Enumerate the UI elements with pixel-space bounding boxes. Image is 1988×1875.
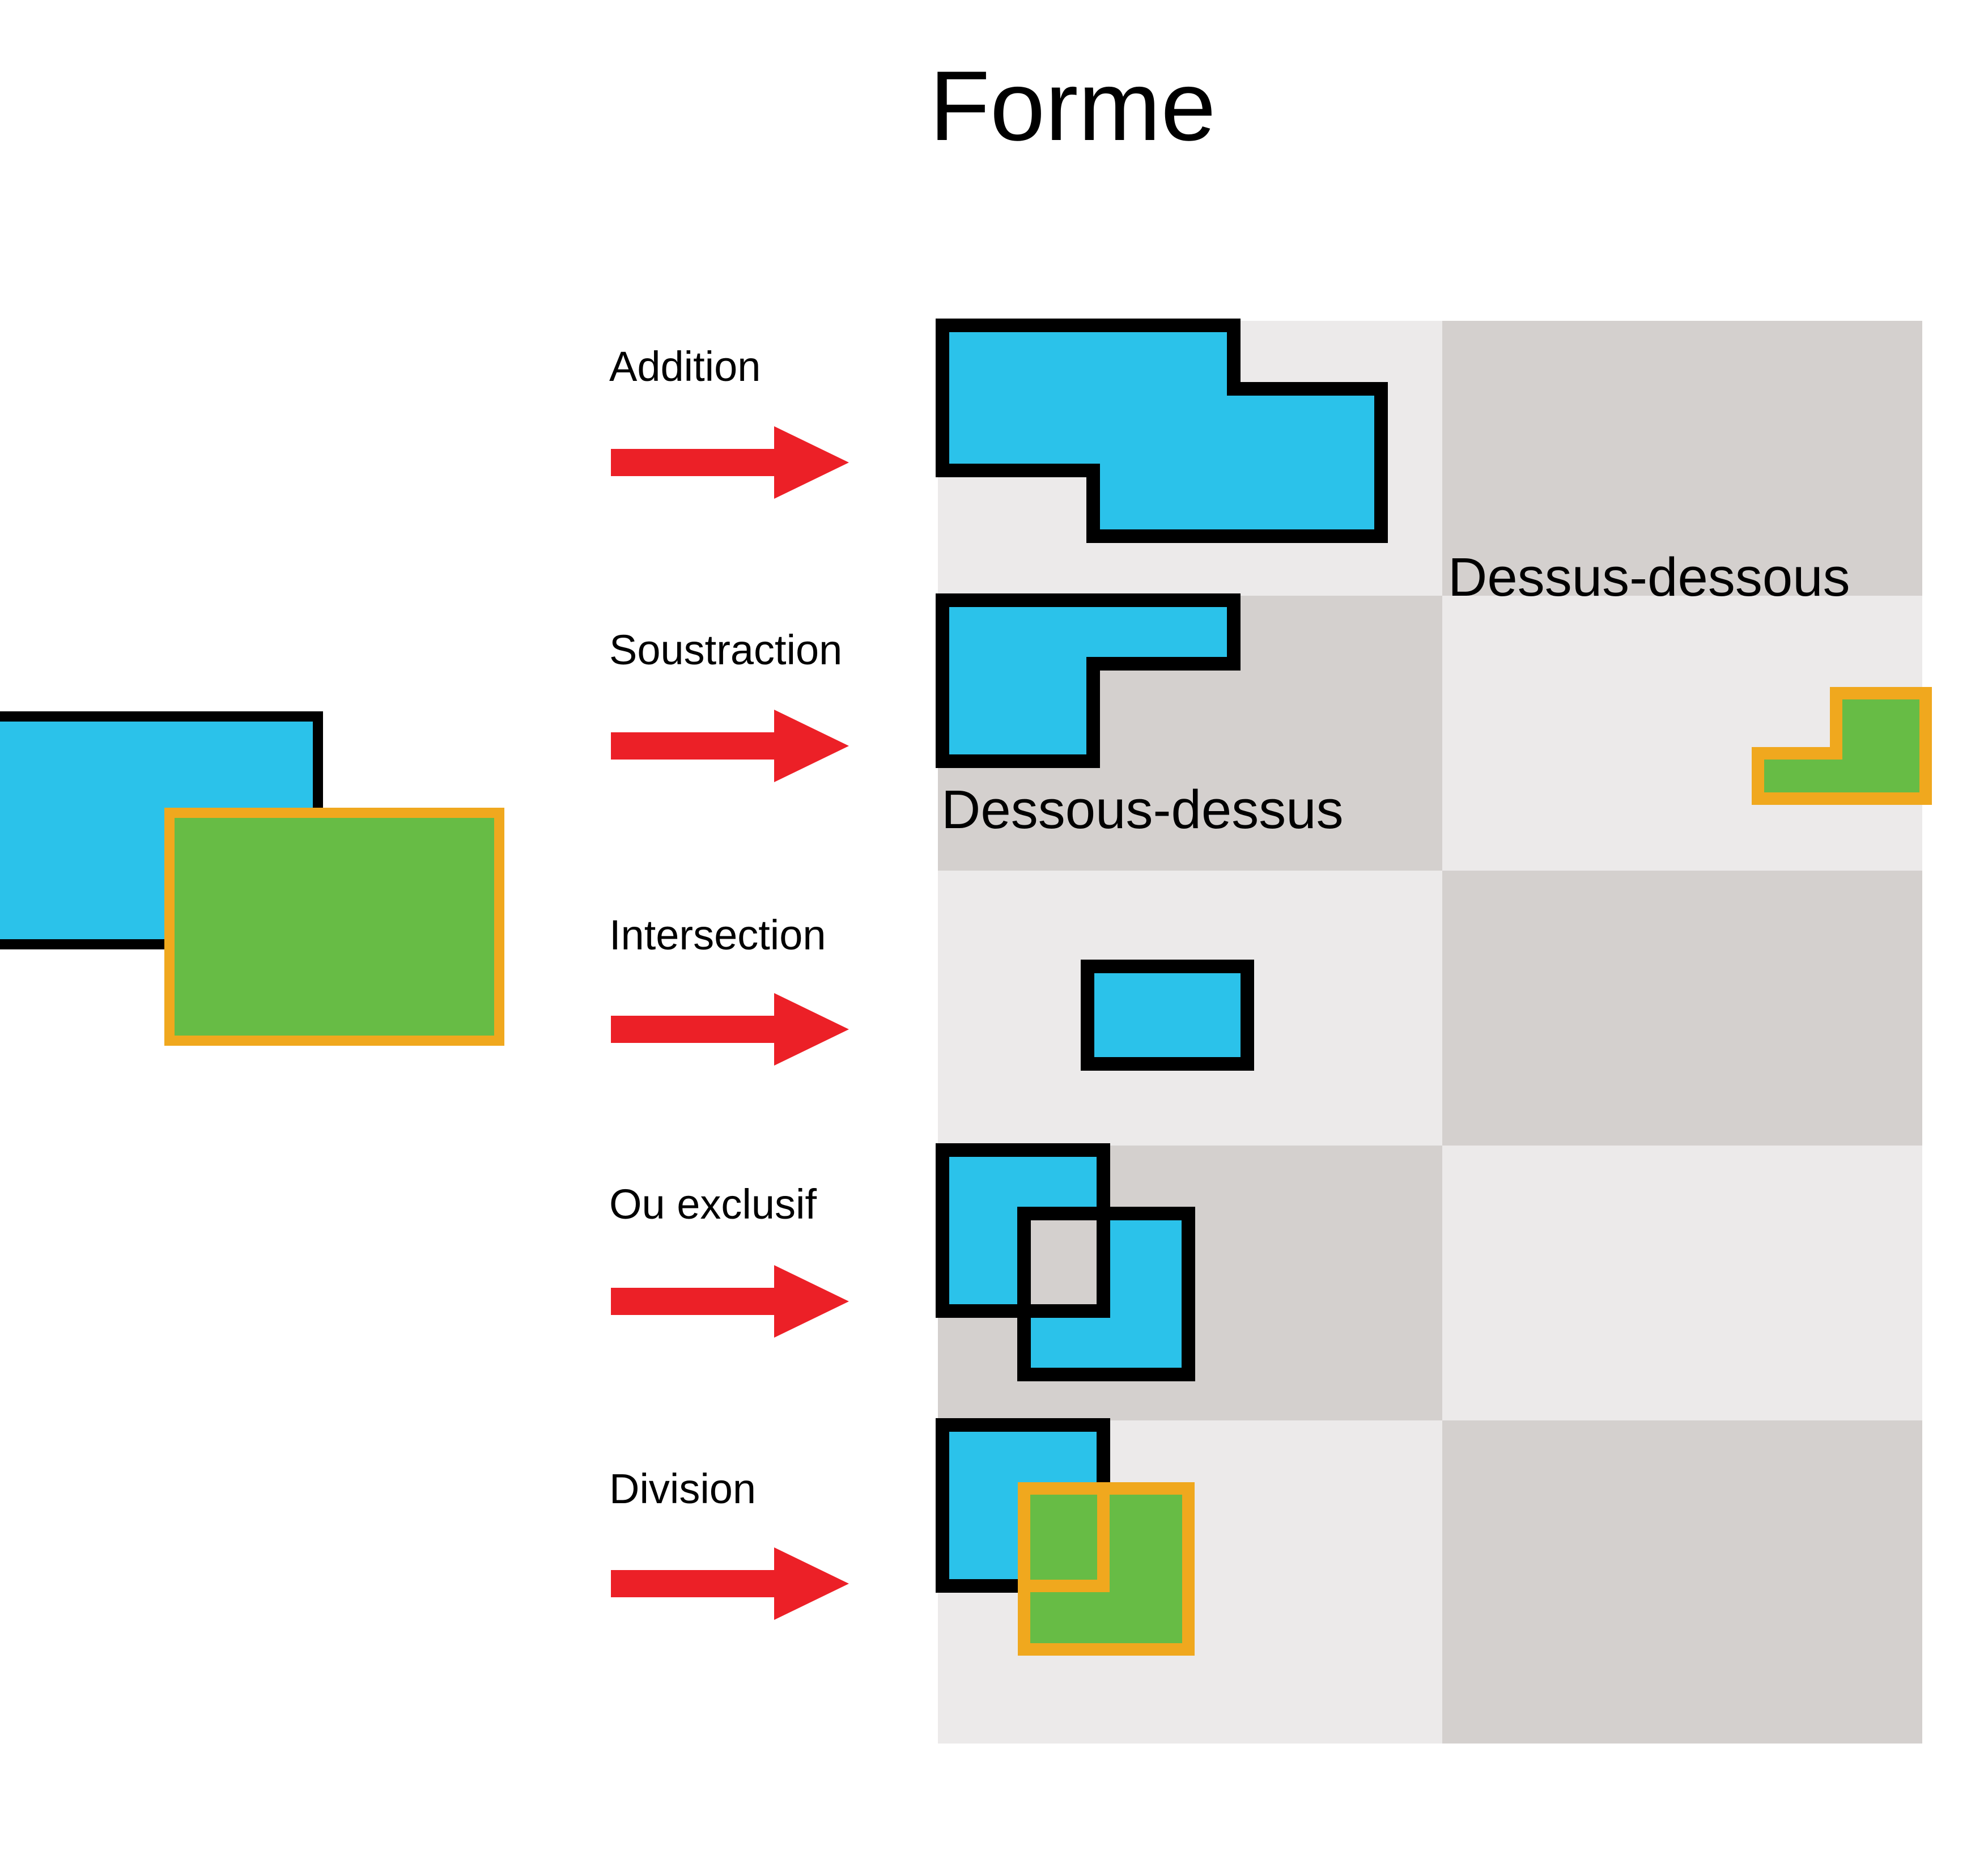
column-label-dessus-dessous: Dessus-dessous [1448,550,1850,605]
arrow-icon-soustraction [611,710,849,782]
forme-boolean-operations-diagram: Forme Addition Soustraction Intersection… [0,0,1988,1875]
operation-label-soustraction: Soustraction [609,629,842,671]
arrow-icon-addition [611,426,849,499]
operation-label-intersection: Intersection [609,914,826,956]
arrow-icon-intersection [611,993,849,1066]
cell-soustraction-dessus-dessous: Dessus-dessous [1442,596,1922,871]
cell-ou-exclusif-dessous-dessus [938,1146,1442,1420]
source-green-rectangle [164,808,504,1046]
operation-label-ou-exclusif: Ou exclusif [609,1183,817,1225]
cell-intersection-dessous-dessus [938,871,1442,1146]
result-shape-soustraction-green [1751,686,1932,805]
cell-soustraction-dessous-dessus: Dessous-dessus [938,596,1442,871]
result-shape-addition-union [933,316,1455,600]
result-shape-intersection [1080,958,1255,1072]
result-shape-division [933,1416,1455,1756]
operation-label-addition: Addition [609,346,761,388]
results-grid: Dessous-dessus Dessus-dessous [938,321,1922,1744]
arrow-icon-ou-exclusif [611,1265,849,1338]
result-shape-ou-exclusif [933,1141,1455,1424]
cell-division-dessus-dessous [1442,1420,1922,1744]
cell-division-dessous-dessus [938,1420,1442,1744]
operation-label-division: Division [609,1468,756,1510]
column-label-dessous-dessus: Dessous-dessus [941,783,1344,837]
cell-addition-dessous-dessus [938,321,1442,596]
cell-ou-exclusif-dessus-dessous [1442,1146,1922,1420]
arrow-icon-division [611,1547,849,1620]
cell-intersection-dessus-dessous [1442,871,1922,1146]
page-title: Forme [929,57,1383,156]
